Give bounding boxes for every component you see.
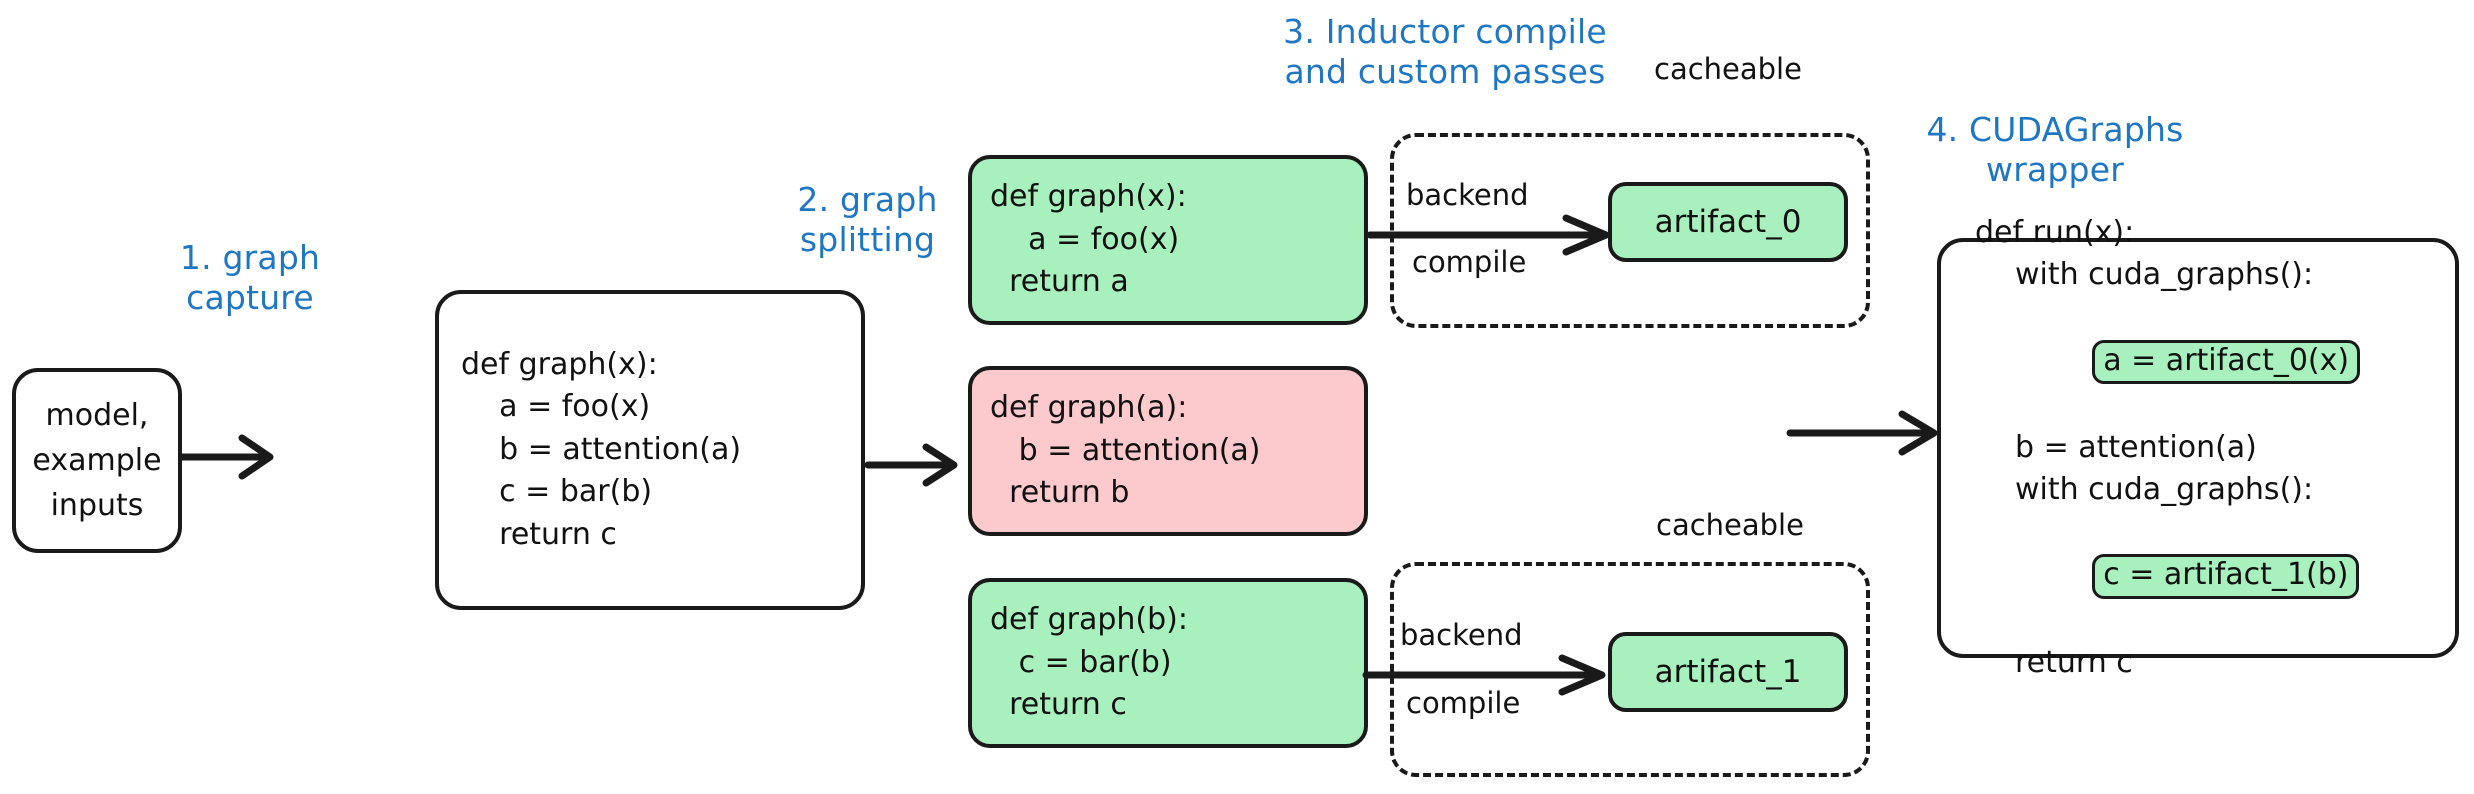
split-graph-attention-line-0: def graph(a): xyxy=(990,387,1364,430)
runtime-line-2-wrap: a = artifact_0(x) xyxy=(1975,297,2455,427)
split-graph-attention-line-1: b = attention(a) xyxy=(990,430,1364,473)
captured-graph-line-2: b = attention(a) xyxy=(461,429,861,472)
runtime-line-0: def run(x): xyxy=(1975,212,2455,255)
captured-graph-box: def graph(x): a = foo(x) b = attention(a… xyxy=(435,290,865,610)
captured-graph-line-4: return c xyxy=(461,514,861,557)
step-label-4-cudagraphs-wrapper: 4. CUDAGraphs wrapper xyxy=(1880,110,2230,191)
split-graph-foo-line-1: a = foo(x) xyxy=(990,219,1364,262)
captured-graph-line-3: c = bar(b) xyxy=(461,471,861,514)
runtime-box: def run(x): with cuda_graphs(): a = arti… xyxy=(1937,238,2459,658)
artifact-0-box: artifact_0 xyxy=(1608,182,1848,262)
input-box: model, example inputs xyxy=(12,368,182,553)
edge-label-backend-1: backend xyxy=(1400,618,1523,652)
arrow-input-to-graph xyxy=(182,432,282,482)
split-graph-foo-line-0: def graph(x): xyxy=(990,176,1364,219)
edge-label-backend-0: backend xyxy=(1406,178,1529,212)
cacheable-label-0: cacheable xyxy=(1654,52,1802,86)
captured-graph-line-1: a = foo(x) xyxy=(461,386,861,429)
split-graph-bar-line-2: return c xyxy=(990,684,1364,727)
runtime-line-5-wrap: c = artifact_1(b) xyxy=(1975,512,2455,642)
arrow-backend-compile-1 xyxy=(1366,655,1616,695)
split-graph-attention: def graph(a): b = attention(a) return b xyxy=(968,366,1368,536)
arrow-to-runtime xyxy=(1790,408,1945,458)
diagram-canvas: 1. graph capture 2. graph splitting 3. I… xyxy=(0,0,2474,794)
arrow-backend-compile-0 xyxy=(1370,215,1620,255)
cacheable-label-1: cacheable xyxy=(1656,508,1804,542)
arrow-graph-to-split xyxy=(868,440,966,490)
runtime-line-1: with cuda_graphs(): xyxy=(1975,254,2455,297)
runtime-line-4: with cuda_graphs(): xyxy=(1975,469,2455,512)
artifact-1-box: artifact_1 xyxy=(1608,632,1848,712)
split-graph-bar-line-1: c = bar(b) xyxy=(990,642,1364,685)
step-label-2-graph-splitting: 2. graph splitting xyxy=(770,180,965,261)
captured-graph-line-0: def graph(x): xyxy=(461,344,861,387)
step-label-3-inductor-compile: 3. Inductor compile and custom passes xyxy=(1220,12,1670,93)
input-box-line-0: model, xyxy=(46,393,149,438)
runtime-line-2-highlight: a = artifact_0(x) xyxy=(2092,340,2360,385)
split-graph-foo-line-2: return a xyxy=(990,261,1364,304)
input-box-line-2: inputs xyxy=(51,483,144,528)
split-graph-attention-line-2: return b xyxy=(990,472,1364,515)
runtime-line-5-highlight: c = artifact_1(b) xyxy=(2092,554,2359,599)
runtime-line-3: b = attention(a) xyxy=(1975,427,2455,470)
step-label-1-graph-capture: 1. graph capture xyxy=(150,238,350,319)
split-graph-bar: def graph(b): c = bar(b) return c xyxy=(968,578,1368,748)
runtime-line-6: return c xyxy=(1975,642,2455,685)
input-box-line-1: example xyxy=(32,438,161,483)
split-graph-bar-line-0: def graph(b): xyxy=(990,599,1364,642)
split-graph-foo: def graph(x): a = foo(x) return a xyxy=(968,155,1368,325)
